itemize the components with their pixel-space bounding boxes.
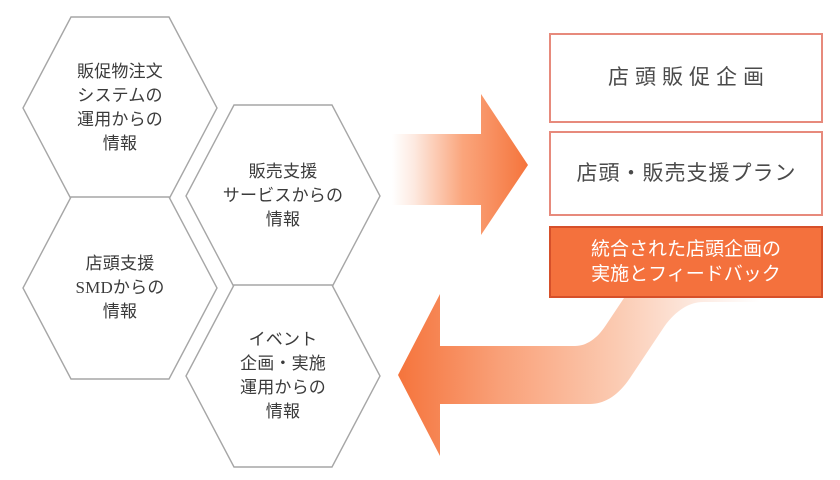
hexagon-label: イベント 企画・実施 運用からの 情報 <box>240 328 326 425</box>
hexagon-event-planning[interactable]: イベント 企画・実施 運用からの 情報 <box>185 284 381 468</box>
output-box-label: 店頭・販売支援プラン <box>576 160 797 188</box>
output-box-store-promo-plan[interactable]: 店頭販促企画 <box>549 33 823 123</box>
output-box-label: 店頭販促企画 <box>602 64 770 92</box>
output-box-label: 統合された店頭企画の 実施とフィードバック <box>591 237 781 287</box>
output-box-store-sales-support-plan[interactable]: 店頭・販売支援プラン <box>549 131 823 216</box>
hexagon-label: 店頭支援 SMDからの 情報 <box>75 252 164 324</box>
output-box-integrated-execution-feedback[interactable]: 統合された店頭企画の 実施とフィードバック <box>549 226 823 298</box>
arrow-right-icon <box>392 94 528 235</box>
diagram-canvas: 販促物注文 システムの 運用からの 情報 販売支援 サービスからの 情報 店頭支… <box>0 0 840 480</box>
hexagon-label: 販促物注文 システムの 運用からの 情報 <box>77 60 163 157</box>
hexagon-label: 販売支援 サービスからの 情報 <box>223 160 343 232</box>
